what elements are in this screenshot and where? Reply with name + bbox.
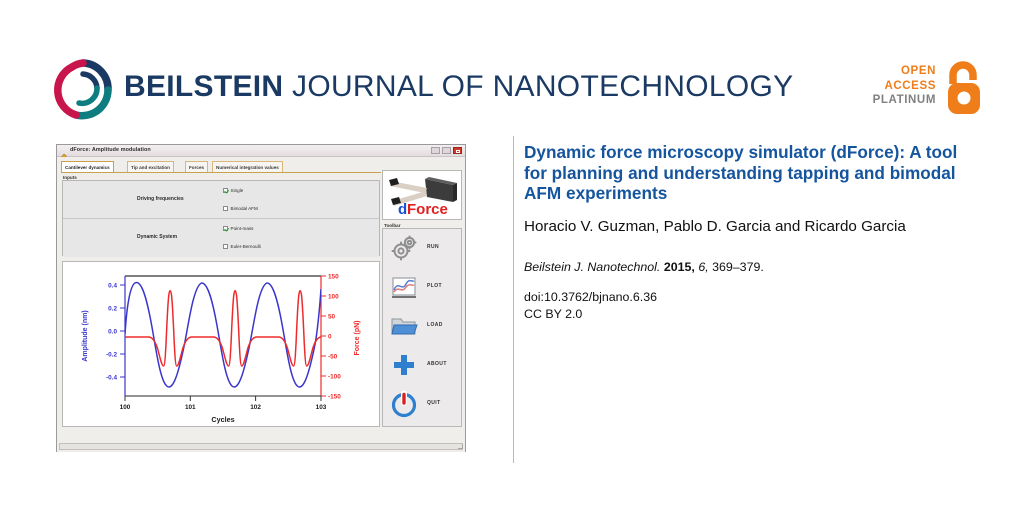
citation-journal: Beilstein J. Nanotechnol.: [524, 260, 660, 274]
dforce-application-window: dForce: Amplitude modulation Cantilever …: [56, 144, 466, 452]
y2tick-1: 100: [328, 293, 339, 300]
line-chart-icon: [390, 273, 418, 301]
dforce-logo-force: Force: [407, 201, 448, 218]
chart-ylabel: Amplitude (nm): [82, 310, 89, 361]
window-title: dForce: Amplitude modulation: [70, 147, 151, 153]
tab-cantilever-dynamics[interactable]: Cantilever dynamics: [61, 161, 114, 172]
ytick-3: -0.2: [106, 351, 117, 358]
checkbox-box-euler-bernoulli: [223, 244, 228, 249]
window-close-button[interactable]: [453, 147, 462, 154]
article-license: CC BY 2.0: [524, 306, 964, 324]
article-authors: Horacio V. Guzman, Pablo D. Garcia and R…: [524, 217, 964, 237]
window-client-area: Cantilever dynamics Tip and excitation F…: [57, 157, 465, 452]
toolbar-button-run[interactable]: RUN: [383, 229, 461, 268]
status-bar: [59, 443, 463, 450]
y2tick-4: -50: [328, 353, 338, 360]
article-doi-block: doi:10.3762/bjnano.6.36 CC BY 2.0: [524, 289, 964, 324]
gears-icon: [390, 234, 418, 262]
ytick-1: 0.2: [108, 305, 117, 312]
citation-volume: 6,: [698, 260, 708, 274]
xtick-2: 102: [250, 404, 261, 411]
y2tick-6: -150: [328, 393, 341, 400]
app-icon: [60, 147, 67, 154]
inputs-panel: Driving frequencies Single Bimodal AFM D…: [62, 180, 380, 256]
folder-open-icon: [390, 312, 418, 340]
y2tick-5: -100: [328, 373, 341, 380]
masthead: BEILSTEIN JOURNAL OF NANOTECHNOLOGY OPEN…: [0, 0, 1024, 136]
window-minimize-button[interactable]: [431, 147, 440, 154]
y2tick-0: 150: [328, 273, 339, 280]
checkbox-euler-bernoulli[interactable]: Euler-Bernoulli: [223, 244, 261, 249]
amplitude-force-chart: 0.4 0.2 0.0 -0.2 -0.4 Amplitude (nm) 150…: [63, 262, 379, 426]
toolbar-label-plot: PLOT: [427, 283, 442, 289]
toolbar-button-quit[interactable]: QUIT: [383, 385, 461, 424]
y2tick-2: 50: [328, 313, 336, 320]
input-row-driving-frequencies: Driving frequencies Single Bimodal AFM: [63, 181, 379, 219]
toolbar-button-plot[interactable]: PLOT: [383, 268, 461, 307]
citation-year: 2015,: [664, 260, 695, 274]
article-info: Dynamic force microscopy simulator (dFor…: [524, 142, 964, 324]
xtick-1: 101: [185, 404, 196, 411]
chart-xlabel: Cycles: [211, 415, 234, 424]
input-row-dynamic-system: Dynamic System Point-mass Euler-Bernoull…: [63, 219, 379, 257]
plus-icon: [390, 351, 418, 379]
checkbox-label-point-mass: Point-mass: [231, 226, 254, 231]
checkbox-box-single: [223, 188, 228, 193]
dforce-logo-panel: d Force: [382, 170, 462, 220]
open-access-badge: OPEN ACCESS PLATINUM: [878, 60, 988, 122]
tabstrip: Cantilever dynamics Tip and excitation F…: [61, 161, 381, 173]
toolbar-label-run: RUN: [427, 244, 439, 250]
resize-grip[interactable]: [458, 444, 463, 449]
afm-cantilever-logo: d Force: [383, 171, 461, 219]
checkbox-bimodal-afm[interactable]: Bimodal AFM: [223, 206, 258, 211]
ytick-2: 0.0: [108, 328, 117, 335]
chart-y2label: Force (pN): [354, 321, 361, 356]
column-divider: [513, 136, 514, 463]
dforce-logo-d: d: [398, 201, 407, 218]
toolbar-label-load: LOAD: [427, 322, 443, 328]
row-label-driving-frequencies: Driving frequencies: [137, 196, 184, 202]
checkbox-box-bimodal-afm: [223, 206, 228, 211]
ytick-4: -0.4: [106, 374, 117, 381]
tab-numerical-integration-values[interactable]: Numerical integration values: [212, 161, 283, 172]
article-title: Dynamic force microscopy simulator (dFor…: [524, 142, 964, 204]
xtick-0: 100: [120, 404, 131, 411]
checkbox-point-mass[interactable]: Point-mass: [223, 226, 253, 231]
open-padlock-icon: [940, 60, 988, 118]
article-citation: Beilstein J. Nanotechnol. 2015, 6, 369–3…: [524, 259, 964, 276]
journal-wordmark-bold: BEILSTEIN: [124, 70, 283, 103]
xtick-3: 103: [316, 404, 327, 411]
window-titlebar[interactable]: dForce: Amplitude modulation: [57, 145, 465, 157]
checkbox-label-bimodal-afm: Bimodal AFM: [231, 206, 258, 211]
open-access-line1: OPEN: [873, 64, 936, 79]
open-access-line2: ACCESS: [873, 79, 936, 94]
toolbar-button-about[interactable]: ABOUT: [383, 346, 461, 385]
article-doi[interactable]: doi:10.3762/bjnano.6.36: [524, 289, 964, 307]
checkbox-label-euler-bernoulli: Euler-Bernoulli: [231, 244, 261, 249]
plot-panel: 0.4 0.2 0.0 -0.2 -0.4 Amplitude (nm) 150…: [62, 261, 380, 427]
open-access-words: OPEN ACCESS PLATINUM: [873, 64, 936, 108]
checkbox-label-single: Single: [231, 188, 244, 193]
tab-forces[interactable]: Forces: [185, 161, 208, 172]
citation-pages: 369–379.: [712, 260, 764, 274]
ytick-0: 0.4: [108, 282, 117, 289]
row-label-dynamic-system: Dynamic System: [137, 234, 177, 240]
journal-wordmark-regular: JOURNAL OF NANOTECHNOLOGY: [283, 70, 793, 103]
open-access-line3: PLATINUM: [873, 93, 936, 108]
tab-tip-and-excitation[interactable]: Tip and excitation: [127, 161, 174, 172]
y2tick-3: 0: [328, 333, 332, 340]
window-maximize-button[interactable]: [442, 147, 451, 154]
checkbox-single[interactable]: Single: [223, 188, 243, 193]
journal-wordmark: BEILSTEIN JOURNAL OF NANOTECHNOLOGY: [124, 70, 793, 104]
toolbar-label-about: ABOUT: [427, 361, 447, 367]
beilstein-spiral-logo: [52, 58, 114, 120]
power-icon: [390, 390, 418, 418]
toolbar-button-load[interactable]: LOAD: [383, 307, 461, 346]
checkbox-box-point-mass: [223, 226, 228, 231]
toolbar-panel: RUN PLOT: [382, 228, 462, 427]
toolbar-label-quit: QUIT: [427, 400, 441, 406]
